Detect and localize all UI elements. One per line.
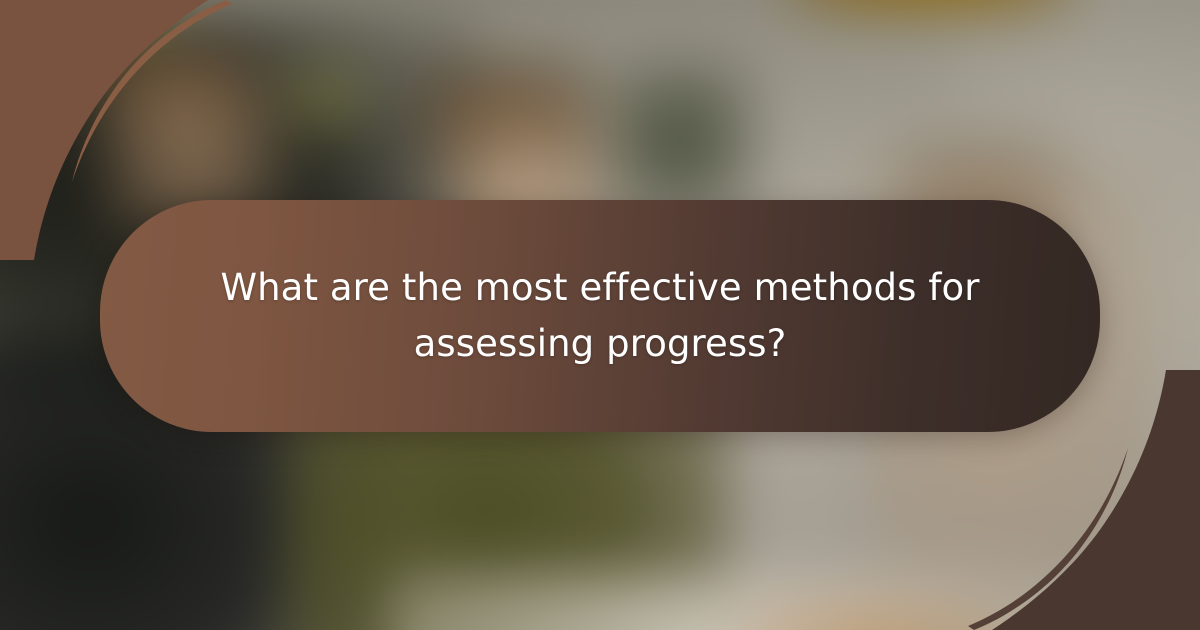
question-text: What are the most effective methods for … <box>100 260 1100 372</box>
background-yellow-accent-2 <box>270 53 376 143</box>
question-card: What are the most effective methods for … <box>100 200 1100 432</box>
background-warm-accent <box>732 600 1022 630</box>
question-card-graphic: What are the most effective methods for … <box>0 0 1200 630</box>
background-amber-object <box>785 0 1075 15</box>
